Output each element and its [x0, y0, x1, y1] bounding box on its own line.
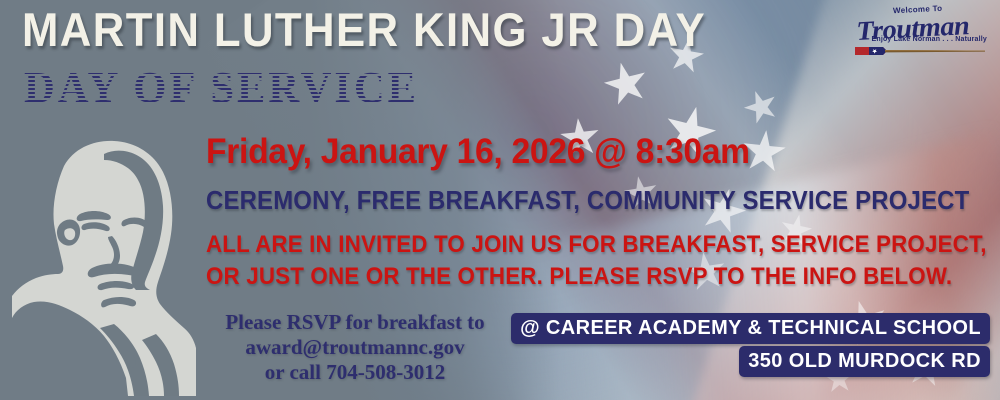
event-datetime: Friday, January 16, 2026 @ 8:30am	[206, 132, 750, 172]
page-title: MARTIN LUTHER KING JR DAY	[22, 4, 706, 56]
event-program-line: CEREMONY, FREE BREAKFAST, COMMUNITY SERV…	[206, 185, 969, 215]
event-invite-line-1: ALL ARE IN INVITED TO JOIN US FOR BREAKF…	[206, 231, 987, 259]
rsvp-block: Please RSVP for breakfast to award@trout…	[205, 310, 505, 385]
location-venue: @ CAREER ACADEMY & TECHNICAL SCHOOL	[511, 313, 990, 344]
page-subtitle: DAY OF SERVICE	[24, 64, 419, 112]
location-street: 350 OLD MURDOCK RD	[739, 346, 990, 377]
location-block: @ CAREER ACADEMY & TECHNICAL SCHOOL 350 …	[511, 313, 990, 377]
mlk-day-of-service-banner: MARTIN LUTHER KING JR DAY DAY OF SERVICE…	[0, 0, 1000, 400]
rsvp-instruction: Please RSVP for breakfast to	[205, 310, 505, 335]
rsvp-phone-line: or call 704-508-3012	[205, 360, 505, 385]
mlk-stencil-portrait-icon	[8, 128, 200, 396]
canoe-paddle-icon	[853, 45, 987, 57]
troutman-logo[interactable]: Welcome To Troutman Enjoy Lake Norman . …	[853, 5, 987, 57]
event-invite-line-2: OR JUST ONE OR THE OTHER. PLEASE RSVP TO…	[206, 263, 952, 291]
logo-tagline: Enjoy Lake Norman . . . Naturally	[871, 36, 987, 43]
rsvp-email-link[interactable]: award@troutmannc.gov	[205, 335, 505, 360]
